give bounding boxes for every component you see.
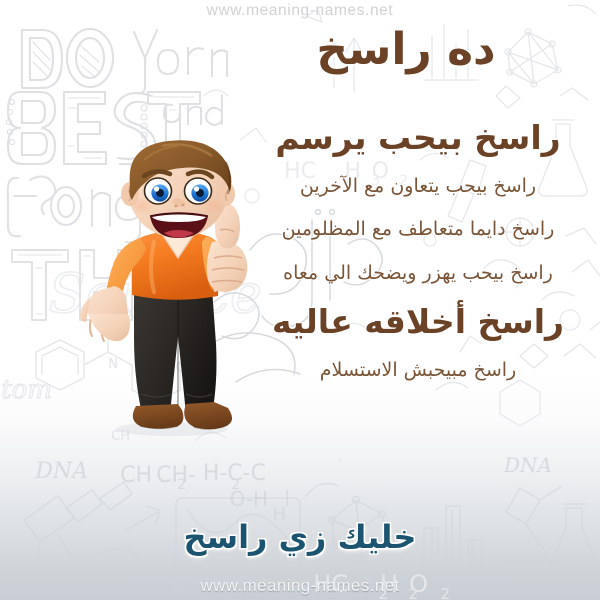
- svg-text:H-C-C: H-C-C: [203, 461, 266, 486]
- svg-text:DNA: DNA: [503, 453, 552, 477]
- svg-text:2: 2: [231, 477, 240, 493]
- svg-text:|: |: [285, 487, 290, 506]
- trait-item: راسخ أخلاقه عاليه: [242, 296, 594, 350]
- trait-item: راسخ بيحب يهزر ويضحك الي معاه: [242, 253, 594, 297]
- trait-item: راسخ مبيحبش الاستسلام: [242, 350, 594, 394]
- name-meaning-card: .ln { fill:none; stroke:#dcdee1; stroke-…: [0, 0, 600, 600]
- footer-slogan: خليك زي راسخ: [0, 518, 600, 556]
- traits-list: راسخ بيحب يرسم راسخ بيحب يتعاون مع الآخر…: [242, 112, 594, 394]
- trait-item: راسخ بيحب يتعاون مع الآخرين: [242, 166, 594, 210]
- svg-text:O-H: O-H: [229, 487, 268, 511]
- svg-text:CH: CH: [120, 463, 152, 488]
- page-title: ده راسخ: [226, 22, 586, 77]
- trait-item: راسخ بيحب يرسم: [242, 112, 594, 166]
- svg-text:-CH: -CH: [156, 463, 196, 488]
- bottom-watermark: www.meaning-names.net: [0, 576, 600, 596]
- svg-text:DNA: DNA: [34, 459, 88, 484]
- svg-text:2: 2: [177, 477, 186, 493]
- top-watermark: www.meaning-names.net: [0, 2, 600, 20]
- svg-text:atom: atom: [0, 375, 52, 405]
- svg-text:′: ′: [339, 458, 342, 474]
- trait-item: راسخ دايما متعاطف مع المظلومين: [242, 209, 594, 253]
